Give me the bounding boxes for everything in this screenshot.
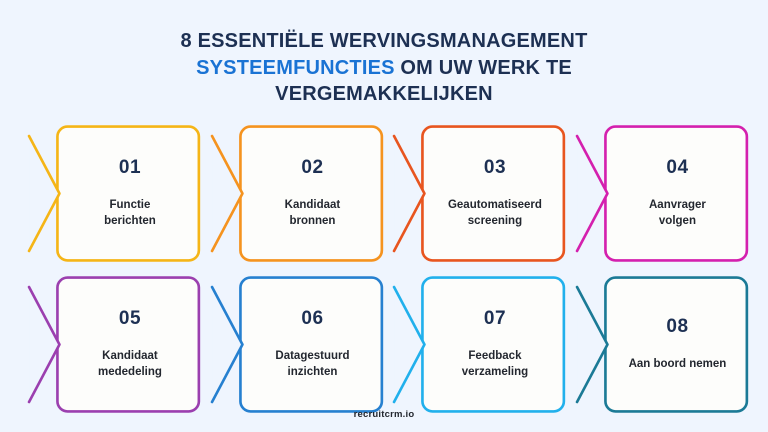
- chevron-notch-fill: [29, 136, 59, 251]
- feature-card[interactable]: 01Functie berichten: [27, 124, 202, 263]
- feature-card[interactable]: 05Kandidaat mededeling: [27, 275, 202, 414]
- card-outline-shape: [27, 275, 202, 414]
- feature-card[interactable]: 08Aan boord nemen: [575, 275, 750, 414]
- feature-card[interactable]: 06Datagestuurd inzichten: [210, 275, 385, 414]
- chevron-notch-fill: [577, 136, 607, 251]
- card-outline-shape: [392, 124, 567, 263]
- card-body-outline: [605, 277, 746, 411]
- title-line-2-rest: OM UW WERK TE: [395, 57, 572, 79]
- chevron-notch-fill: [394, 287, 424, 402]
- feature-card-grid: 01Functie berichten02Kandidaat bronnen03…: [19, 124, 749, 414]
- feature-card[interactable]: 02Kandidaat bronnen: [210, 124, 385, 263]
- card-body-outline: [57, 126, 198, 260]
- card-body-outline: [57, 277, 198, 411]
- feature-card[interactable]: 04Aanvrager volgen: [575, 124, 750, 263]
- chevron-notch-fill: [212, 136, 242, 251]
- card-outline-shape: [210, 124, 385, 263]
- title-line-3: VERGEMAKKELIJKEN: [104, 81, 664, 108]
- card-body-outline: [605, 126, 746, 260]
- card-body-outline: [240, 277, 381, 411]
- chevron-notch-fill: [212, 287, 242, 402]
- card-body-outline: [240, 126, 381, 260]
- card-outline-shape: [575, 275, 750, 414]
- chevron-notch-fill: [577, 287, 607, 402]
- chevron-notch-fill: [394, 136, 424, 251]
- feature-card[interactable]: 03Geautomatiseerd screening: [392, 124, 567, 263]
- feature-card[interactable]: 07Feedback verzameling: [392, 275, 567, 414]
- card-body-outline: [422, 126, 563, 260]
- infographic-canvas: 8 ESSENTIËLE WERVINGSMANAGEMENT SYSTEEMF…: [0, 0, 768, 432]
- card-outline-shape: [27, 124, 202, 263]
- title-line-2: SYSTEEMFUNCTIES OM UW WERK TE: [104, 55, 664, 82]
- chevron-notch-fill: [29, 287, 59, 402]
- page-title: 8 ESSENTIËLE WERVINGSMANAGEMENT SYSTEEMF…: [104, 28, 664, 108]
- card-outline-shape: [392, 275, 567, 414]
- title-line-1: 8 ESSENTIËLE WERVINGSMANAGEMENT: [104, 28, 664, 55]
- card-outline-shape: [575, 124, 750, 263]
- card-outline-shape: [210, 275, 385, 414]
- card-body-outline: [422, 277, 563, 411]
- title-highlight-word: SYSTEEMFUNCTIES: [196, 57, 395, 79]
- footer-brand: recruitcrm.io: [0, 409, 768, 420]
